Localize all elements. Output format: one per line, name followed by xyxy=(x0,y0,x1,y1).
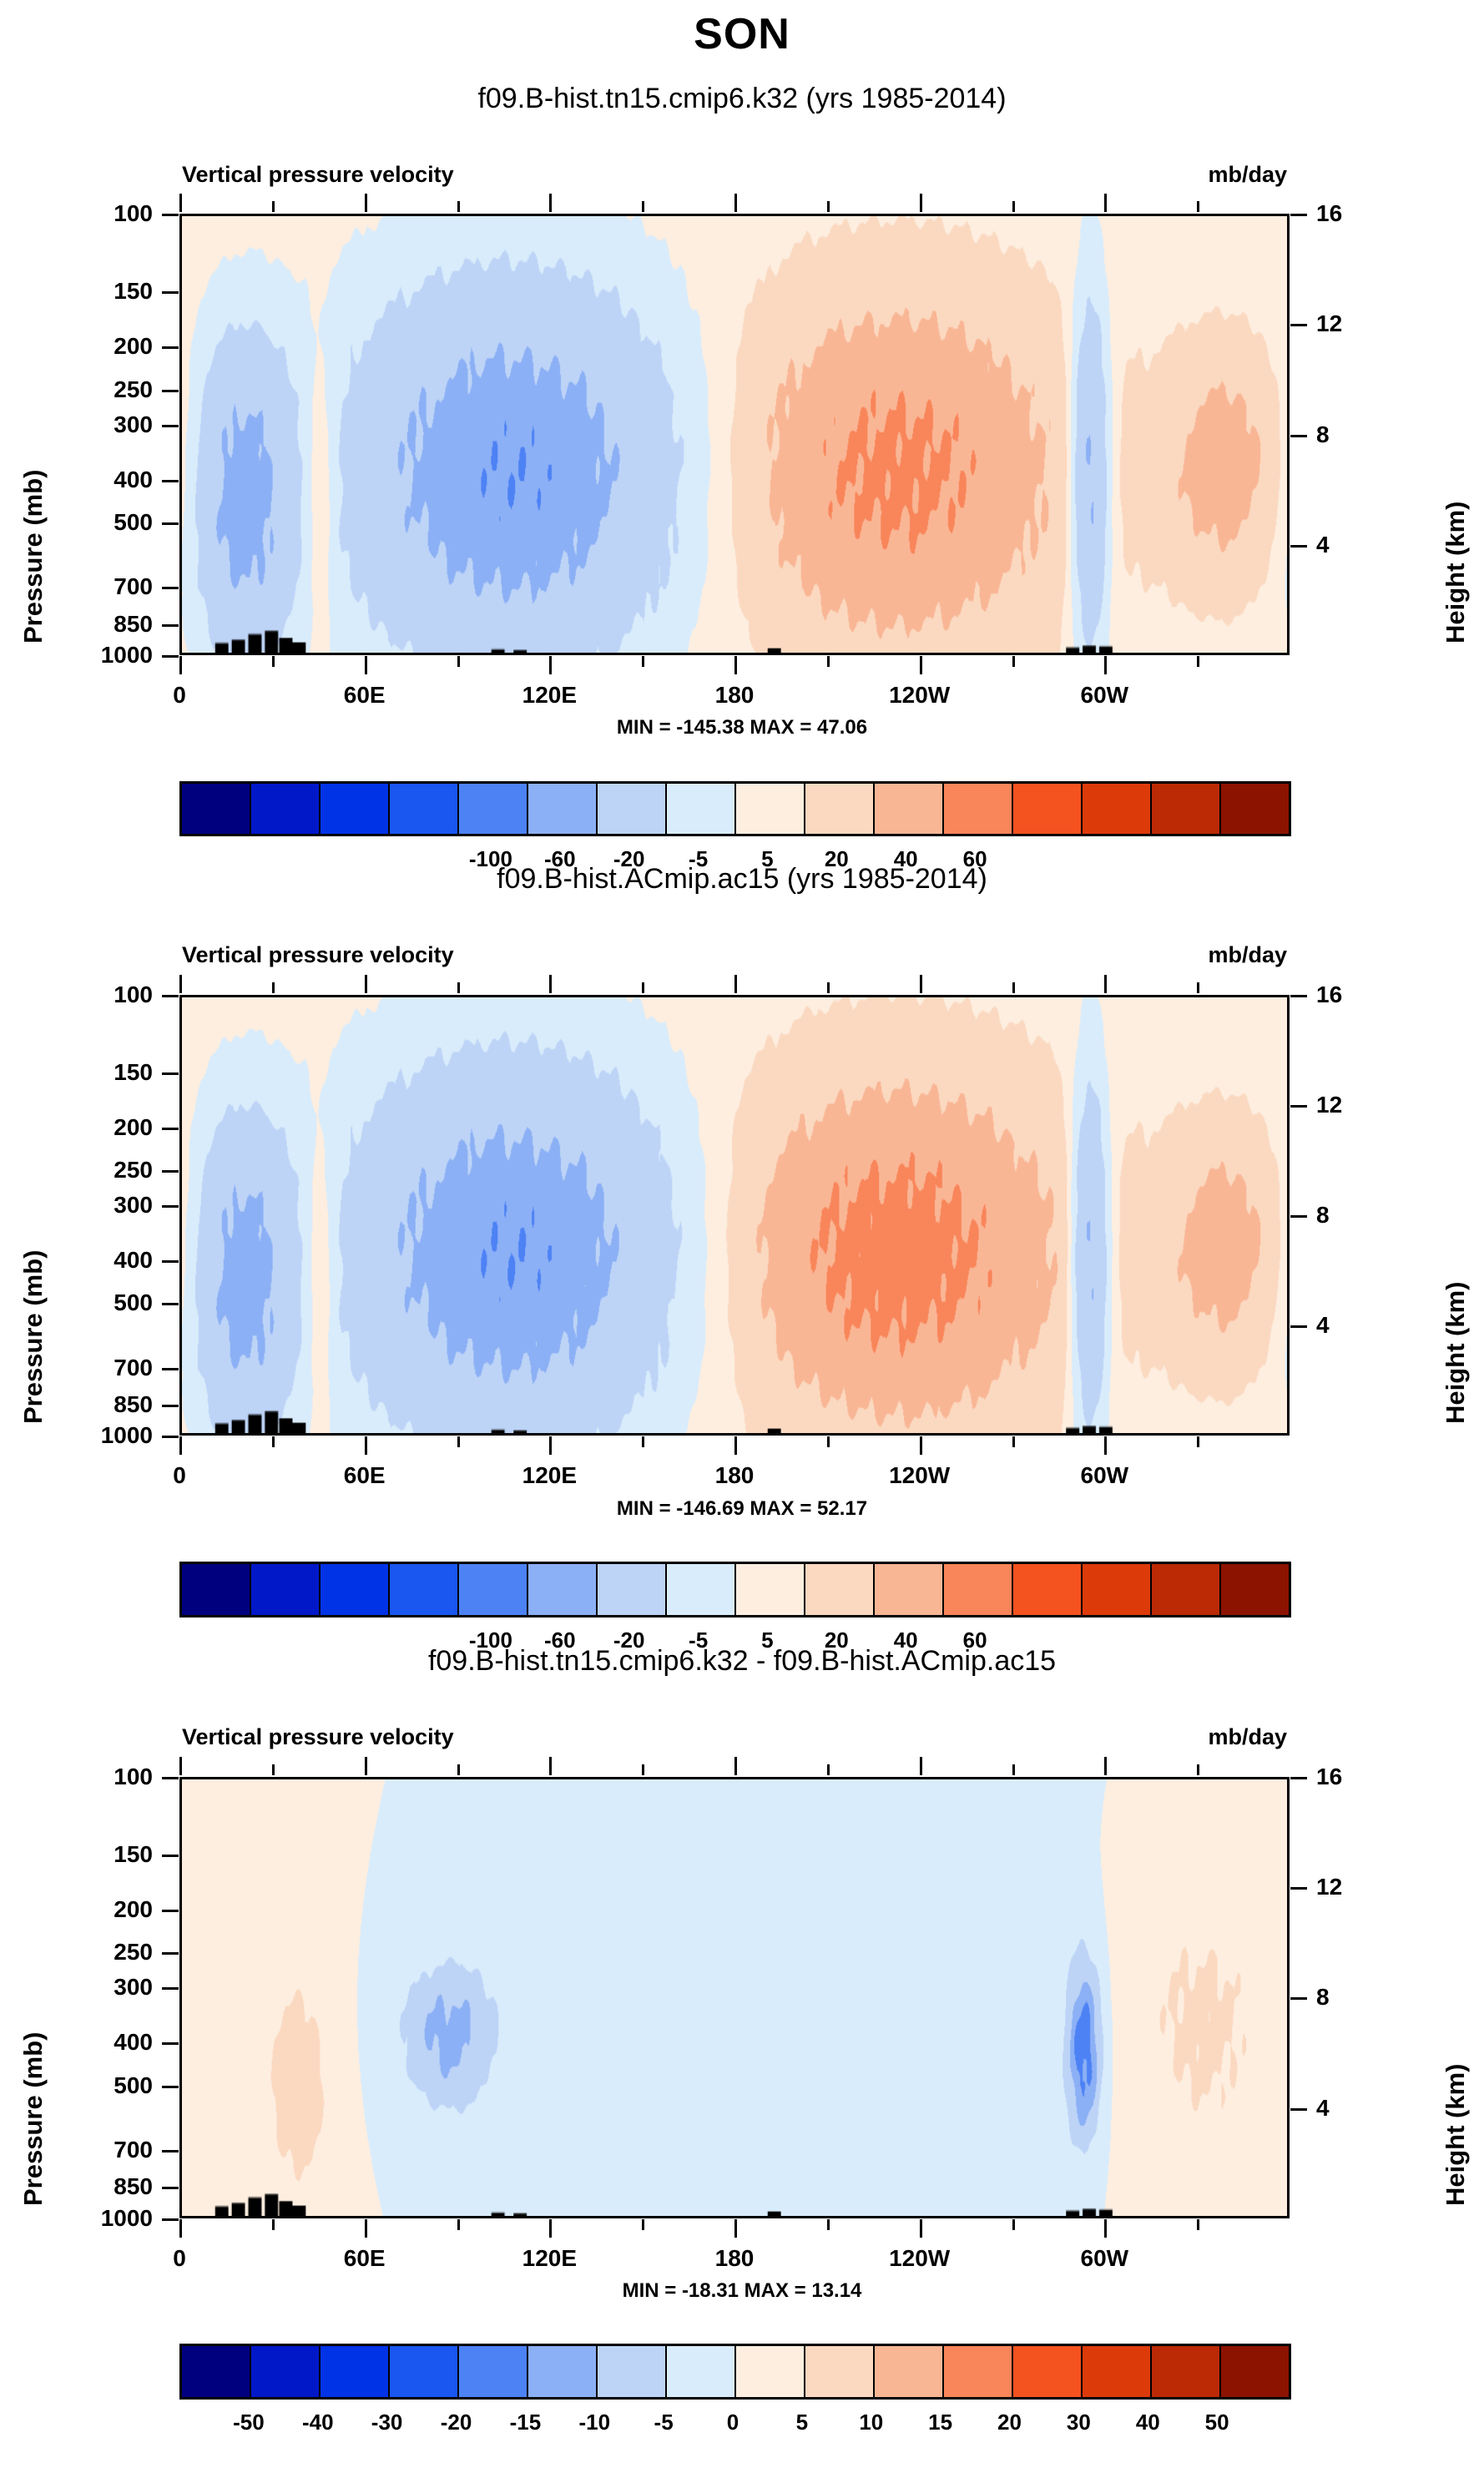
x-tick-minor-top xyxy=(827,201,830,212)
x-tick-minor-bottom xyxy=(457,656,460,667)
x-tick-major-top xyxy=(179,1757,182,1775)
x-tick-minor-top xyxy=(642,982,644,993)
x-tick-major-bottom xyxy=(549,656,552,674)
y-tick-pressure xyxy=(162,655,179,658)
colorbar-swatch[interactable] xyxy=(1083,784,1152,835)
x-tick-major-top xyxy=(734,975,737,993)
colorbar-tick-label: -50 xyxy=(233,2410,265,2435)
x-tick-major-bottom xyxy=(734,1436,737,1455)
figure-root: SON f09.B-hist.tn15.cmip6.k32 (yrs 1985-… xyxy=(0,0,1484,2483)
colorbar-tick-label: 15 xyxy=(928,2410,952,2435)
panel-bottom-title: f09.B-hist.tn15.cmip6.k32 - f09.B-hist.A… xyxy=(0,1645,1484,1678)
x-tick-major-bottom xyxy=(1104,2219,1107,2238)
colorbar-swatch[interactable] xyxy=(1221,2346,1289,2397)
colorbar-swatch[interactable] xyxy=(944,2346,1013,2397)
y-axis-label-height: 4 xyxy=(1316,532,1383,558)
panel-middle-right-subtitle: mb/day xyxy=(1208,942,1287,968)
x-tick-major-bottom xyxy=(179,2219,182,2238)
colorbar-swatch[interactable] xyxy=(390,1564,459,1615)
colorbar-tick-label: -10 xyxy=(579,2410,611,2435)
y-tick-pressure xyxy=(162,2086,179,2088)
y-axis-label-pressure: 300 xyxy=(79,411,153,438)
x-tick-minor-bottom xyxy=(272,2219,275,2230)
x-axis-label: 60W xyxy=(1081,2245,1129,2272)
colorbar-swatch[interactable] xyxy=(1152,1564,1221,1615)
x-tick-minor-bottom xyxy=(642,656,644,667)
main-title: SON xyxy=(0,9,1484,59)
y-tick-height xyxy=(1290,1997,1307,2000)
x-tick-minor-bottom xyxy=(642,1436,644,1447)
colorbar-swatch[interactable] xyxy=(251,784,321,835)
colorbar-swatch[interactable] xyxy=(736,2346,805,2397)
x-axis-label: 0 xyxy=(173,1462,186,1489)
x-tick-minor-bottom xyxy=(827,1436,830,1447)
y-axis-label-pressure: 250 xyxy=(79,1939,153,1966)
x-tick-minor-top xyxy=(827,1764,830,1775)
x-tick-minor-top xyxy=(1197,982,1199,993)
y-axis-label-pressure: 200 xyxy=(79,1896,153,1923)
x-tick-major-bottom xyxy=(365,656,367,674)
colorbar-swatch[interactable] xyxy=(805,784,875,835)
x-tick-minor-top xyxy=(1197,201,1199,212)
x-axis-label: 180 xyxy=(715,682,755,709)
colorbar-swatch[interactable] xyxy=(598,2346,667,2397)
y-tick-pressure xyxy=(162,2218,179,2221)
y-tick-height xyxy=(1290,995,1307,997)
y-tick-pressure xyxy=(162,1368,179,1370)
colorbar-swatch[interactable] xyxy=(390,784,459,835)
y-axis-label-pressure: 700 xyxy=(79,1355,153,1381)
panel-middle-contour-canvas xyxy=(182,997,1287,1434)
colorbar-swatch[interactable] xyxy=(736,784,805,835)
x-axis-label: 0 xyxy=(173,2245,186,2272)
colorbar-swatch[interactable] xyxy=(1083,2346,1152,2397)
colorbar-tick-label: 20 xyxy=(997,2410,1022,2435)
y-axis-label-pressure: 300 xyxy=(79,1192,153,1219)
x-tick-minor-bottom xyxy=(272,656,275,667)
colorbar-swatch[interactable] xyxy=(875,1564,944,1615)
y-tick-pressure xyxy=(162,1987,179,1990)
x-tick-minor-top xyxy=(1012,1764,1015,1775)
colorbar-swatch[interactable] xyxy=(390,2346,459,2397)
x-tick-major-top xyxy=(920,1757,922,1775)
panel-top-title: f09.B-hist.tn15.cmip6.k32 (yrs 1985-2014… xyxy=(0,83,1484,115)
x-axis-label: 60E xyxy=(344,682,386,709)
x-tick-minor-bottom xyxy=(1012,656,1015,667)
y-axis-label-pressure: 500 xyxy=(79,1289,153,1316)
y-tick-pressure xyxy=(162,1910,179,1912)
x-axis-label: 120W xyxy=(889,682,950,709)
x-axis-label: 60W xyxy=(1081,682,1129,709)
colorbar-swatch[interactable] xyxy=(182,784,251,835)
y-tick-pressure xyxy=(162,1405,179,1407)
x-tick-minor-top xyxy=(827,982,830,993)
y-axis-label-pressure: 850 xyxy=(79,2173,153,2200)
y-tick-height xyxy=(1290,214,1307,216)
y-tick-height xyxy=(1290,1105,1307,1108)
y-tick-pressure xyxy=(162,291,179,294)
y-axis-label-pressure: 200 xyxy=(79,333,153,360)
y-axis-label-pressure: 400 xyxy=(79,2029,153,2056)
y-tick-pressure xyxy=(162,624,179,627)
y-tick-pressure xyxy=(162,1072,179,1075)
panel-bottom-left-subtitle: Vertical pressure velocity xyxy=(182,1724,454,1750)
x-tick-minor-top xyxy=(457,201,460,212)
y-tick-pressure xyxy=(162,214,179,216)
y-tick-pressure xyxy=(162,2187,179,2189)
colorbar-swatch[interactable] xyxy=(667,2346,736,2397)
y-axis-label-height: 12 xyxy=(1316,310,1383,337)
x-tick-minor-bottom xyxy=(272,1436,275,1447)
y-tick-height xyxy=(1290,2108,1307,2111)
y-tick-height xyxy=(1290,435,1307,437)
x-tick-major-bottom xyxy=(920,1436,922,1455)
colorbar-tick-label: -20 xyxy=(441,2410,472,2435)
y-tick-height xyxy=(1290,324,1307,326)
colorbar-swatch[interactable] xyxy=(459,1564,528,1615)
x-axis-label: 60E xyxy=(344,2245,386,2272)
x-tick-minor-bottom xyxy=(1197,2219,1199,2230)
x-axis-label: 120E xyxy=(522,2245,577,2272)
panel-top-right-subtitle: mb/day xyxy=(1208,162,1287,188)
panel-bottom-plot-area[interactable] xyxy=(179,1777,1290,2218)
panel-bottom-right-subtitle: mb/day xyxy=(1208,1724,1287,1750)
colorbar-swatch[interactable] xyxy=(1013,784,1083,835)
x-tick-minor-top xyxy=(1012,201,1015,212)
colorbar-swatch[interactable] xyxy=(321,1564,390,1615)
y-tick-height xyxy=(1290,1325,1307,1328)
x-axis-label: 120E xyxy=(522,1462,577,1489)
y-axis-label-pressure: 100 xyxy=(79,1764,153,1790)
colorbar-tick-label: 0 xyxy=(727,2410,739,2435)
x-tick-major-top xyxy=(549,975,552,993)
x-tick-minor-top xyxy=(642,1764,644,1775)
colorbar-swatch[interactable] xyxy=(459,784,528,835)
x-tick-major-bottom xyxy=(734,656,737,674)
y-axis-label-height: 8 xyxy=(1316,421,1383,448)
colorbar-tick-label: 5 xyxy=(796,2410,808,2435)
x-tick-minor-bottom xyxy=(642,2219,644,2230)
y-tick-pressure xyxy=(162,2150,179,2152)
colorbar-swatch[interactable] xyxy=(321,2346,390,2397)
x-tick-major-top xyxy=(734,194,737,212)
x-tick-major-bottom xyxy=(179,1436,182,1455)
x-tick-major-bottom xyxy=(549,1436,552,1455)
colorbar-tick-label: 50 xyxy=(1205,2410,1229,2435)
y-axis-label-height: 4 xyxy=(1316,1312,1383,1339)
panel-middle-right-axis-title: Height (km) xyxy=(1441,1282,1471,1425)
colorbar-swatch[interactable] xyxy=(875,784,944,835)
colorbar-swatch[interactable] xyxy=(667,784,736,835)
x-tick-major-bottom xyxy=(179,656,182,674)
colorbar-swatch[interactable] xyxy=(528,784,598,835)
y-axis-label-height: 8 xyxy=(1316,1984,1383,2011)
y-tick-pressure xyxy=(162,1128,179,1130)
x-tick-minor-top xyxy=(457,982,460,993)
x-tick-major-bottom xyxy=(365,1436,367,1455)
x-axis-label: 120E xyxy=(522,682,577,709)
y-axis-label-pressure: 400 xyxy=(79,1247,153,1274)
x-tick-major-top xyxy=(734,1757,737,1775)
x-axis-label: 180 xyxy=(715,2245,755,2272)
y-tick-pressure xyxy=(162,1303,179,1305)
panel-top-plot-area[interactable] xyxy=(179,214,1290,655)
y-axis-label-pressure: 250 xyxy=(79,376,153,403)
y-axis-label-pressure: 850 xyxy=(79,1391,153,1418)
x-tick-major-bottom xyxy=(734,2219,737,2238)
y-tick-pressure xyxy=(162,1855,179,1857)
y-tick-pressure xyxy=(162,480,179,482)
colorbar-tick-label: -5 xyxy=(654,2410,674,2435)
colorbar-tick-label: 30 xyxy=(1067,2410,1091,2435)
y-tick-pressure xyxy=(162,587,179,589)
y-tick-height xyxy=(1290,1777,1307,1779)
y-axis-label-pressure: 150 xyxy=(79,278,153,305)
x-tick-major-top xyxy=(549,194,552,212)
colorbar-tick-label: 40 xyxy=(1136,2410,1160,2435)
x-tick-major-top xyxy=(179,194,182,212)
x-tick-major-bottom xyxy=(365,2219,367,2238)
colorbar-swatch[interactable] xyxy=(528,1564,598,1615)
x-tick-major-top xyxy=(365,194,367,212)
panel-middle-title: f09.B-hist.ACmip.ac15 (yrs 1985-2014) xyxy=(0,863,1484,896)
x-tick-minor-bottom xyxy=(827,656,830,667)
x-tick-major-bottom xyxy=(549,2219,552,2238)
x-tick-minor-top xyxy=(272,982,275,993)
panel-middle-plot-area[interactable] xyxy=(179,995,1290,1436)
panel-top-contour-canvas xyxy=(182,216,1287,653)
x-tick-major-top xyxy=(1104,975,1107,993)
x-tick-major-bottom xyxy=(1104,1436,1107,1455)
panel-bottom-minmax: MIN = -18.31 MAX = 13.14 xyxy=(0,2279,1484,2303)
x-tick-major-top xyxy=(920,975,922,993)
colorbar-swatch[interactable] xyxy=(182,1564,251,1615)
x-axis-label: 120W xyxy=(889,1462,950,1489)
y-tick-pressure xyxy=(162,1170,179,1173)
x-tick-minor-bottom xyxy=(827,2219,830,2230)
y-axis-label-pressure: 150 xyxy=(79,1841,153,1868)
x-tick-major-top xyxy=(920,194,922,212)
y-tick-pressure xyxy=(162,995,179,997)
colorbar-swatch[interactable] xyxy=(736,1564,805,1615)
x-tick-major-top xyxy=(549,1757,552,1775)
y-tick-pressure xyxy=(162,346,179,349)
y-tick-pressure xyxy=(162,1260,179,1263)
x-tick-minor-bottom xyxy=(1197,656,1199,667)
y-axis-label-pressure: 200 xyxy=(79,1114,153,1141)
y-axis-label-pressure: 1000 xyxy=(79,642,153,669)
x-tick-major-bottom xyxy=(920,656,922,674)
y-axis-label-height: 16 xyxy=(1316,200,1383,227)
y-tick-height xyxy=(1290,1215,1307,1218)
colorbar-swatch[interactable] xyxy=(667,1564,736,1615)
y-axis-label-height: 12 xyxy=(1316,1874,1383,1900)
colorbar-swatch[interactable] xyxy=(1013,2346,1083,2397)
y-axis-label-height: 8 xyxy=(1316,1202,1383,1229)
panel-top-left-subtitle: Vertical pressure velocity xyxy=(182,162,454,188)
x-tick-major-bottom xyxy=(920,2219,922,2238)
y-axis-label-pressure: 700 xyxy=(79,573,153,600)
panel-middle-colorbar[interactable] xyxy=(179,1562,1291,1617)
x-tick-minor-top xyxy=(457,1764,460,1775)
panel-top-minmax: MIN = -145.38 MAX = 47.06 xyxy=(0,716,1484,739)
y-tick-pressure xyxy=(162,1952,179,1955)
colorbar-swatch[interactable] xyxy=(944,1564,1013,1615)
x-axis-label: 120W xyxy=(889,2245,950,2272)
x-tick-minor-bottom xyxy=(1012,2219,1015,2230)
y-tick-height xyxy=(1290,545,1307,548)
colorbar-swatch[interactable] xyxy=(182,2346,251,2397)
colorbar-swatch[interactable] xyxy=(1221,1564,1289,1615)
x-tick-minor-bottom xyxy=(457,2219,460,2230)
colorbar-swatch[interactable] xyxy=(1152,784,1221,835)
x-tick-minor-top xyxy=(642,201,644,212)
x-axis-label: 60E xyxy=(344,1462,386,1489)
panel-middle-left-axis-title: Pressure (mb) xyxy=(18,1250,48,1424)
y-axis-label-pressure: 1000 xyxy=(79,1422,153,1449)
colorbar-swatch[interactable] xyxy=(1083,1564,1152,1615)
y-axis-label-pressure: 150 xyxy=(79,1059,153,1086)
y-axis-label-pressure: 700 xyxy=(79,2137,153,2163)
y-axis-label-height: 12 xyxy=(1316,1092,1383,1118)
y-axis-label-pressure: 300 xyxy=(79,1974,153,2001)
colorbar-swatch[interactable] xyxy=(1152,2346,1221,2397)
panel-top-left-axis-title: Pressure (mb) xyxy=(18,469,48,643)
panel-top-right-axis-title: Height (km) xyxy=(1441,501,1471,643)
x-tick-minor-bottom xyxy=(1012,1436,1015,1447)
colorbar-swatch[interactable] xyxy=(321,784,390,835)
x-tick-major-top xyxy=(1104,194,1107,212)
y-tick-pressure xyxy=(162,390,179,392)
panel-middle-minmax: MIN = -146.69 MAX = 52.17 xyxy=(0,1497,1484,1521)
x-tick-minor-top xyxy=(1012,982,1015,993)
y-axis-label-height: 16 xyxy=(1316,982,1383,1008)
x-tick-major-top xyxy=(365,975,367,993)
colorbar-swatch[interactable] xyxy=(805,2346,875,2397)
panel-bottom-left-axis-title: Pressure (mb) xyxy=(18,2032,48,2206)
x-tick-major-top xyxy=(1104,1757,1107,1775)
y-axis-label-pressure: 100 xyxy=(79,982,153,1008)
x-tick-major-top xyxy=(179,975,182,993)
colorbar-swatch[interactable] xyxy=(1013,1564,1083,1615)
panel-middle-left-subtitle: Vertical pressure velocity xyxy=(182,942,454,968)
y-tick-pressure xyxy=(162,522,179,525)
colorbar-swatch[interactable] xyxy=(598,1564,667,1615)
x-axis-label: 180 xyxy=(715,1462,755,1489)
panel-bottom-contour-canvas xyxy=(182,1779,1287,2216)
x-axis-label: 60W xyxy=(1081,1462,1129,1489)
panel-bottom-colorbar-labels: -50-40-30-20-15-10-505101520304050 xyxy=(179,2410,1290,2464)
y-axis-label-pressure: 500 xyxy=(79,2072,153,2099)
y-axis-label-height: 16 xyxy=(1316,1764,1383,1790)
x-tick-minor-bottom xyxy=(1197,1436,1199,1447)
y-axis-label-pressure: 400 xyxy=(79,467,153,493)
panel-bottom-right-axis-title: Height (km) xyxy=(1441,2064,1471,2207)
y-tick-pressure xyxy=(162,425,179,427)
x-tick-minor-top xyxy=(272,201,275,212)
y-axis-label-pressure: 1000 xyxy=(79,2205,153,2232)
panel-bottom-colorbar[interactable] xyxy=(179,2344,1291,2400)
colorbar-swatch[interactable] xyxy=(875,2346,944,2397)
y-axis-label-pressure: 500 xyxy=(79,509,153,536)
colorbar-swatch[interactable] xyxy=(598,784,667,835)
colorbar-tick-label: 10 xyxy=(859,2410,883,2435)
colorbar-swatch[interactable] xyxy=(1221,784,1289,835)
colorbar-tick-label: -40 xyxy=(302,2410,334,2435)
y-axis-label-pressure: 100 xyxy=(79,200,153,227)
colorbar-tick-label: -30 xyxy=(371,2410,403,2435)
y-tick-pressure xyxy=(162,1205,179,1208)
x-tick-minor-bottom xyxy=(457,1436,460,1447)
x-tick-minor-top xyxy=(272,1764,275,1775)
panel-top-colorbar[interactable] xyxy=(179,781,1291,837)
colorbar-tick-label: -15 xyxy=(510,2410,542,2435)
colorbar-swatch[interactable] xyxy=(528,2346,598,2397)
y-axis-label-height: 4 xyxy=(1316,2095,1383,2122)
colorbar-swatch[interactable] xyxy=(944,784,1013,835)
y-axis-label-pressure: 850 xyxy=(79,611,153,638)
y-axis-label-pressure: 250 xyxy=(79,1157,153,1183)
y-tick-pressure xyxy=(162,1777,179,1779)
colorbar-swatch[interactable] xyxy=(251,2346,321,2397)
x-tick-minor-top xyxy=(1197,1764,1199,1775)
x-axis-label: 0 xyxy=(173,682,186,709)
y-tick-height xyxy=(1290,1887,1307,1890)
x-tick-major-top xyxy=(365,1757,367,1775)
x-tick-major-bottom xyxy=(1104,656,1107,674)
colorbar-swatch[interactable] xyxy=(805,1564,875,1615)
y-tick-pressure xyxy=(162,1436,179,1438)
y-tick-pressure xyxy=(162,2042,179,2045)
colorbar-swatch[interactable] xyxy=(251,1564,321,1615)
colorbar-swatch[interactable] xyxy=(459,2346,528,2397)
